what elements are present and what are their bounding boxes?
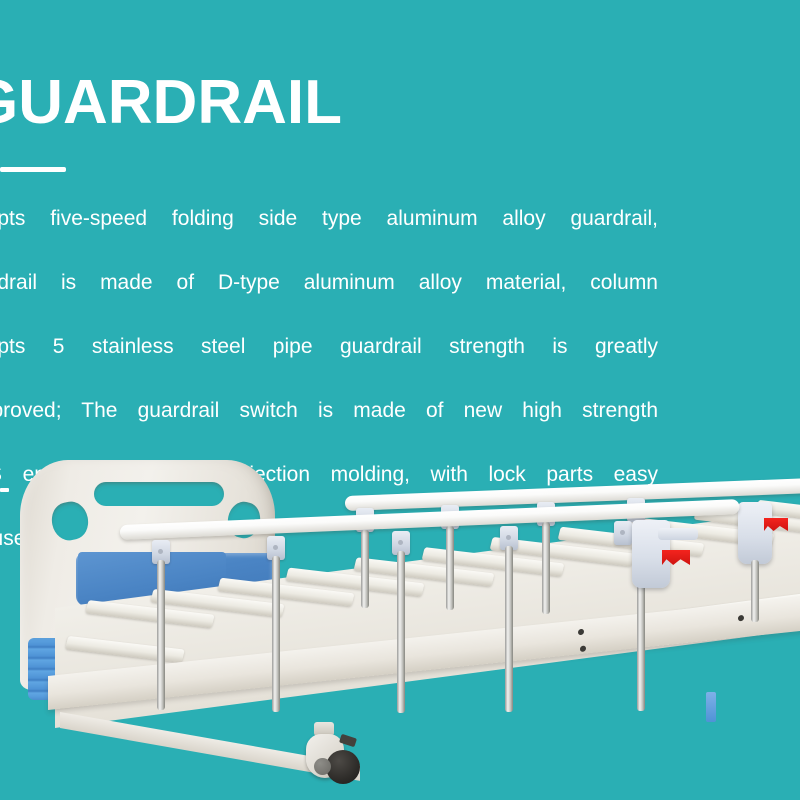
guardrail-post <box>157 560 165 710</box>
description-line: dopts 5 stainless steel pipe guardrail s… <box>0 331 658 395</box>
caster-tire <box>326 750 360 784</box>
guardrail-post <box>272 556 280 712</box>
page-title: GUARDRAIL <box>0 72 490 134</box>
guardrail-post <box>361 530 369 608</box>
clamp-screw-icon <box>506 535 511 540</box>
clamp-screw-icon <box>158 549 163 554</box>
caster-wheel <box>300 730 362 790</box>
headboard-handle-cutout <box>94 482 224 506</box>
guardrail-post <box>446 526 454 610</box>
clamp-screw-icon <box>273 545 278 550</box>
guardrail-switch[interactable] <box>738 502 772 564</box>
cropped-edge-marker <box>0 488 9 492</box>
guardrail-switch-arm <box>658 528 698 540</box>
guardrail-switch[interactable] <box>632 520 670 588</box>
headboard-side-cutout-left <box>48 499 91 544</box>
title-underline <box>0 167 66 172</box>
product-banner: GUARDRAIL dopts five-speed folding side … <box>0 0 800 800</box>
clamp-screw-icon <box>398 540 403 545</box>
guardrail-post <box>505 546 513 712</box>
guardrail-post <box>751 560 759 622</box>
guardrail-post <box>542 522 550 614</box>
guardrail-clamp <box>614 521 632 545</box>
frame-screw <box>578 629 584 636</box>
product-photo <box>0 440 800 800</box>
description-line: andrail is made of D-type aluminum alloy… <box>0 267 658 331</box>
clamp-screw-icon <box>620 530 625 535</box>
deck-slat <box>65 636 185 663</box>
description-line: dopts five-speed folding side type alumi… <box>0 203 658 267</box>
frame-screw <box>580 645 586 652</box>
right-corner-bumper <box>706 692 716 722</box>
guardrail-post <box>397 551 405 713</box>
caster-hub <box>314 758 331 775</box>
frame-screw <box>738 615 744 622</box>
